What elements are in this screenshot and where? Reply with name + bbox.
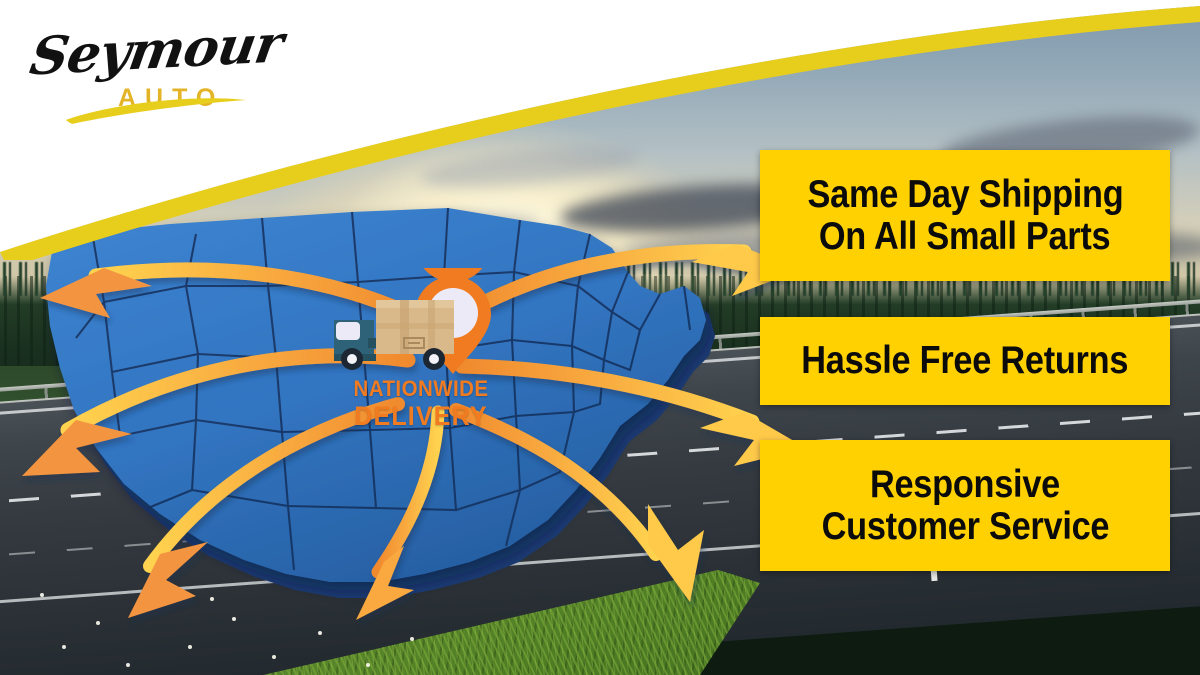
brand-logo[interactable]: Seymour AUTO [22,18,282,130]
nationwide-delivery-badge: NATIONWIDE DELIVERY [316,268,526,458]
feature-banner-same-day-shipping[interactable]: Same Day Shipping On All Small Parts [760,150,1170,281]
banner-line: On All Small Parts [819,216,1111,257]
delivery-icons [316,268,526,388]
banner-line: Same Day Shipping [807,174,1123,215]
marketing-banner: NATIONWIDE DELIVERY Seymour AUTO Same Da… [0,0,1200,675]
delivery-badge-text: NATIONWIDE DELIVERY [316,378,526,430]
banner-line: Responsive [870,464,1060,505]
feature-banner-hassle-free-returns[interactable]: Hassle Free Returns [760,317,1170,405]
delivery-badge-line2: DELIVERY [323,403,518,430]
logo-swoosh-icon [22,18,282,130]
feature-banner-responsive-customer-service[interactable]: Responsive Customer Service [760,440,1170,571]
delivery-truck-icon [334,300,454,370]
delivery-badge-line1: NATIONWIDE [323,378,518,400]
banner-line: Customer Service [821,506,1109,547]
banner-line: Hassle Free Returns [802,340,1129,381]
